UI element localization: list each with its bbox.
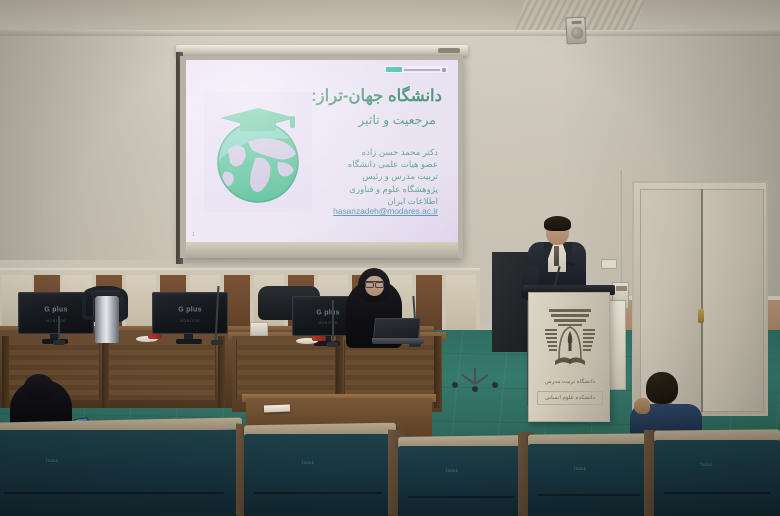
seat-brand-badge: fadak [46,458,58,463]
university-emblem-icon [543,303,597,375]
seat-brand-badge: fadak [446,468,458,473]
slide-page-number: 1 [192,232,195,238]
wall-speaker-icon [565,16,586,44]
seat-brand-badge: fadak [574,466,586,471]
auditorium-seat[interactable]: fadak [654,440,780,516]
byline-line-1: دکتر محمد حسن زاده [348,146,438,158]
wall-conduit [619,170,622,284]
projector-screen-surface: دانشگاه جهان-تراز: مرجعیت و تاثیر دکتر م… [186,60,458,242]
door-leaf-right[interactable] [702,189,764,412]
slide-subtitle: مرجعیت و تاثیر [358,112,436,127]
auditorium-seat[interactable]: fadak [398,446,524,516]
monitor-sub-label: MONITOR [318,321,338,325]
desk-microphone-stem [58,316,60,342]
monitor-sub-label: MONITOR [180,319,200,323]
podium-university-name: دانشگاه تربیت مدرس [535,379,605,385]
head-covering [24,374,54,400]
slide-byline: دکتر محمد حسن زاده عضو هیات علمی دانشگاه… [348,146,438,207]
desk-microphone-base [53,340,65,345]
monitor-sub-label: MONITOR [46,319,66,323]
snack-pack [148,334,162,339]
snack-pack [312,336,326,341]
wall-socket [601,259,617,269]
glasses-icon [365,281,384,285]
seat-groove [408,496,514,498]
globe-icon [204,92,312,212]
emblem-svg [543,303,597,375]
byline-line-4: پژوهشگاه علوم و فناوری [348,183,438,195]
caster-wheel [452,382,458,388]
toolbar-dot-icon [442,68,446,72]
desk-leg [218,336,225,408]
toolbar-text-line [404,69,440,71]
front-right-attendee [626,372,702,434]
laptop[interactable] [372,318,424,344]
auditorium-seat[interactable]: fadak [0,430,238,516]
book [264,405,290,413]
slide-title: دانشگاه جهان-تراز: [311,86,442,106]
seat-groove [254,492,382,494]
monitor-brand-label: G plus [316,309,340,316]
monitor-base [176,339,202,344]
laptop-lid [373,318,421,339]
seat-groove [664,492,770,494]
byline-line-3: تربیت مدرس و رئیس [348,170,438,182]
seat-brand-badge: fadak [700,462,712,467]
tissue-box[interactable] [250,322,268,336]
screen-pull-knob[interactable] [438,48,460,53]
monitor-brand-label: G plus [178,306,202,313]
wall-shadow-left [0,30,175,260]
chair-caster-base [452,368,498,390]
laptop-base [372,338,424,344]
podium: دانشگاه تربیت مدرس دانشکده علوم انسانی [528,292,610,422]
lapel-left [544,242,554,270]
lecture-hall-photo: دانشگاه جهان-تراز: مرجعیت و تاثیر دکتر م… [0,0,780,516]
desk-front-panel [236,340,336,400]
screen-bottom-edge [186,242,458,258]
podium-faculty-name: دانشکده علوم انسانی [535,395,605,401]
slide-app-toolbar [384,66,448,73]
projector-screen-housing[interactable] [176,45,468,56]
presentation-slide: دانشگاه جهان-تراز: مرجعیت و تاثیر دکتر م… [186,60,458,242]
toolbar-button[interactable] [386,67,402,72]
hand [634,398,650,414]
desk-front-panel [344,340,440,400]
light-switch[interactable] [616,286,627,291]
attendee-head [646,372,678,404]
byline-line-2: عضو هیات علمی دانشگاه [348,158,438,170]
speaker-slit [572,21,582,25]
door-handle-icon[interactable] [698,309,704,323]
seat-groove [4,492,224,494]
desk-front-panel [108,340,216,400]
desk-microphone-stem [332,300,334,344]
monitor-brand-label: G plus [44,306,68,313]
caster-wheel [492,382,498,388]
presenter-hair [544,216,571,231]
speaker-cone [571,27,584,40]
caster-wheel [472,386,478,392]
desk-microphone-base [327,342,339,347]
thermos-airpot[interactable] [95,296,119,343]
desk-microphone-base [211,340,223,345]
auditorium-seat[interactable]: fadak [528,444,650,516]
globe-graduation-graphic [204,92,312,212]
wainscot-panel-light [446,275,476,332]
caster-spoke [474,374,488,385]
desk-leg [102,336,109,408]
seat-brand-badge: fadak [302,460,314,465]
slide-email-link[interactable]: hasanzadeh@modares.ac.ir [333,206,438,216]
desk-leg [2,336,9,408]
seat-groove [538,494,640,496]
auditorium-seat[interactable]: fadak [244,434,394,516]
necktie [554,246,559,266]
